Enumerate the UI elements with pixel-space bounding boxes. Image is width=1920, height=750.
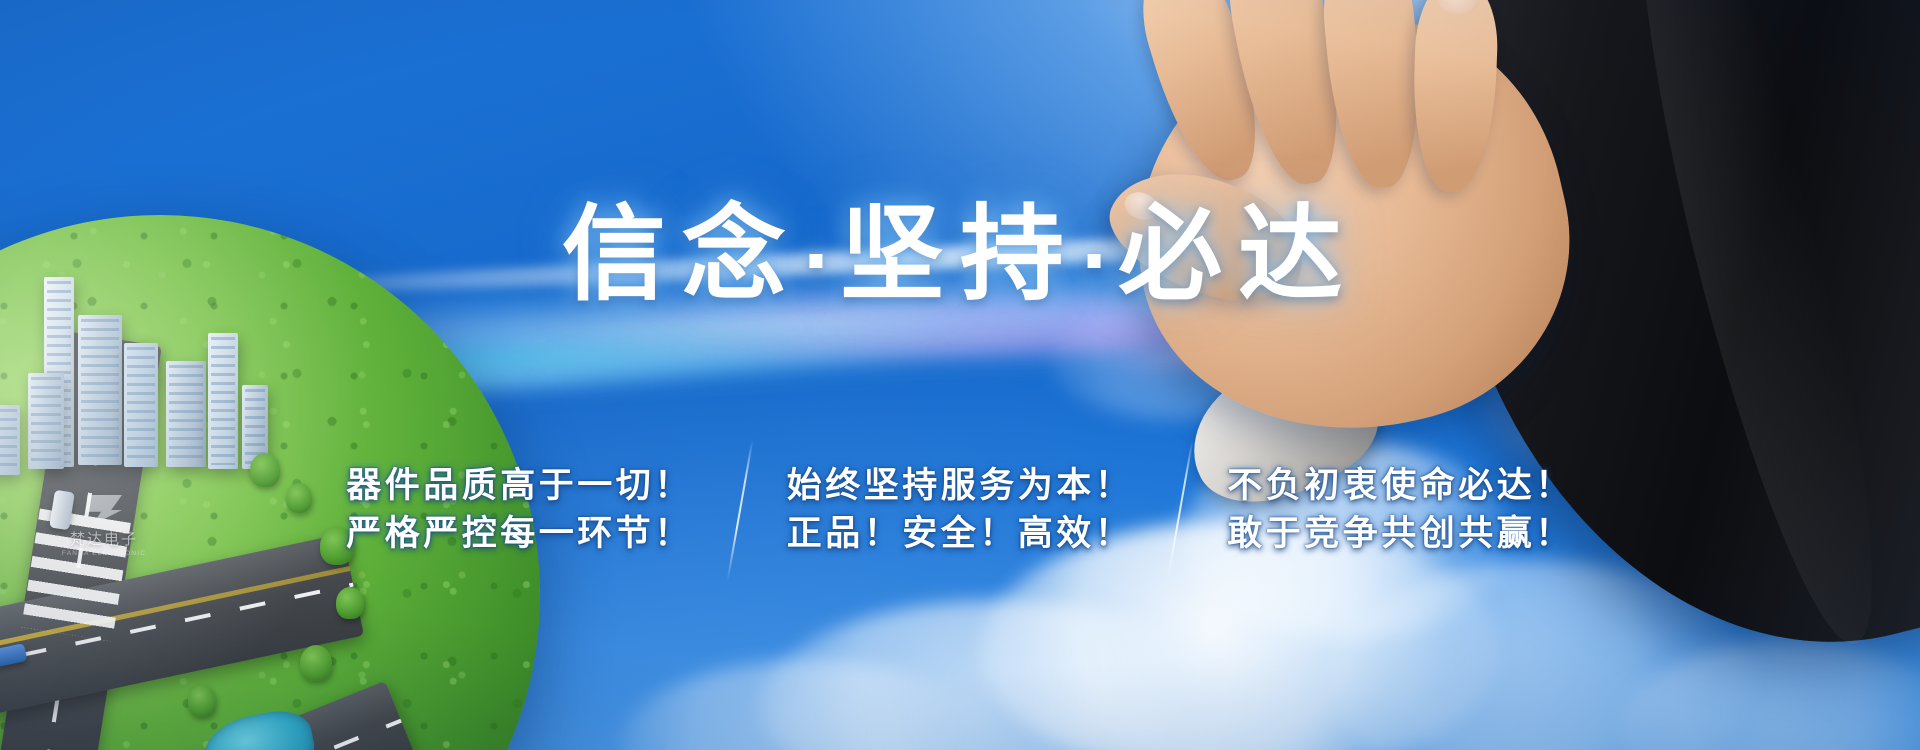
car: [0, 643, 27, 669]
building: [124, 343, 158, 467]
lane-marking-yellow: [0, 566, 350, 700]
building: [78, 315, 122, 465]
pond: [198, 704, 320, 750]
slogan-column-2: 始终坚持服务为本！ 正品！安全！高效！: [757, 462, 1164, 559]
fingernail: [1438, 0, 1479, 15]
tree: [300, 645, 332, 681]
slogan-line: 严格严控每一环节！: [346, 510, 693, 558]
building: [44, 277, 74, 467]
slogan-line: 正品！安全！高效！: [787, 510, 1134, 558]
promo-banner: 梵达电子 FANDA ELECTRONIC on 信念·坚持·必达: [0, 0, 1920, 750]
slogan-line: 敢于竞争共创共赢！: [1227, 510, 1574, 558]
slogan-line: 不负初衷使命必达！: [1227, 462, 1574, 510]
building: [242, 385, 268, 469]
building: [166, 361, 206, 467]
tree: [188, 685, 216, 717]
building: [28, 373, 64, 469]
slogan-line: 始终坚持服务为本！: [787, 462, 1134, 510]
road-horizontal: [0, 534, 364, 750]
tree: [250, 735, 280, 750]
thumbnail: [1121, 187, 1162, 224]
slogan-column-1: 器件品质高于一切！ 严格严控每一环节！: [316, 462, 723, 559]
handshake-illustration: [1100, 0, 1920, 750]
slogan-column-3: 不负初衷使命必达！ 敢于竞争共创共赢！: [1197, 462, 1604, 559]
road-lower: [0, 681, 417, 750]
slogan-row: 器件品质高于一切！ 严格严控每一环节！ 始终坚持服务为本！ 正品！安全！高效！ …: [0, 462, 1920, 559]
building: [208, 333, 238, 469]
tree: [336, 587, 364, 619]
lane-marking: [0, 719, 402, 750]
lane-marking: [0, 583, 354, 716]
slogan-line: 器件品质高于一切！: [346, 462, 693, 510]
